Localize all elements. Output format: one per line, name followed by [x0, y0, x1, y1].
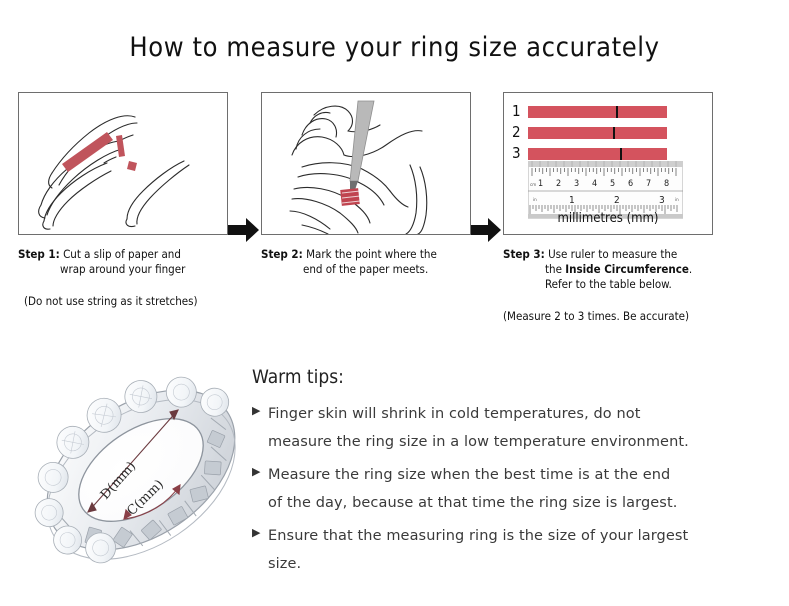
svg-text:in: in — [533, 197, 537, 203]
page-title: How to measure your ring size accurately — [0, 32, 789, 63]
ring-diagram: D(mm) C(mm) — [28, 352, 254, 588]
svg-text:4: 4 — [592, 179, 597, 189]
svg-text:cm: cm — [530, 183, 536, 188]
step-3-line2-pre: the — [545, 262, 565, 276]
step-3-line2-post: . — [689, 262, 692, 276]
svg-text:3: 3 — [574, 179, 579, 189]
step-1-note: (Do not use string as it stretches) — [18, 294, 242, 308]
step-2-line1: Mark the point where the — [306, 247, 437, 261]
tip-text: Measure the ring size when the best time… — [268, 461, 772, 517]
tip-2-line2: of the day, because at that time the rin… — [268, 495, 677, 511]
tip-2-line1: Measure the ring size when the best time… — [268, 467, 670, 483]
bullet-icon: ▶ — [252, 400, 268, 416]
step-3-label: Step 3: — [503, 247, 545, 261]
svg-text:6: 6 — [628, 179, 633, 189]
strip-mark-1 — [616, 106, 618, 118]
step-3-caption: Step 3: Use ruler to measure the the Ins… — [503, 247, 727, 292]
strip-number-2: 2 — [512, 125, 528, 140]
strip-number-1: 1 — [512, 104, 528, 119]
svg-text:2: 2 — [614, 195, 620, 206]
measured-strip-row-3: 3 — [512, 146, 667, 161]
strip-mark-2 — [613, 127, 615, 139]
svg-text:7: 7 — [646, 179, 651, 189]
millimetres-unit-label: millimetres (mm) — [504, 211, 712, 226]
steps-row: Step 1: Cut a slip of paper and wrap aro… — [0, 92, 789, 342]
tip-text: Finger skin will shrink in cold temperat… — [268, 400, 772, 456]
step-2-column: Step 2: Mark the point where the end of … — [261, 92, 485, 277]
strip-bar-1 — [528, 106, 667, 118]
svg-text:3: 3 — [659, 195, 665, 206]
measured-strip-row-1: 1 — [512, 104, 667, 119]
tip-item: ▶ Finger skin will shrink in cold temper… — [252, 400, 772, 456]
bullet-icon: ▶ — [252, 461, 268, 477]
panel-hand-marking-paper — [261, 92, 471, 235]
step-3-inside-circumference: Inside Circumference — [565, 262, 689, 276]
tip-item: ▶ Ensure that the measuring ring is the … — [252, 522, 772, 578]
step-2-line2: end of the paper meets. — [261, 262, 485, 277]
warm-tips-heading: Warm tips: — [252, 366, 772, 388]
panel-hand-with-paper-strip — [18, 92, 228, 235]
tip-item: ▶ Measure the ring size when the best ti… — [252, 461, 772, 517]
step-3-column: 1 2 3 — [503, 92, 727, 323]
panel-ruler-with-strips: 1 2 3 — [503, 92, 713, 235]
strip-number-3: 3 — [512, 146, 528, 161]
step-3-line3: Refer to the table below. — [503, 277, 727, 292]
step-1-label: Step 1: — [18, 247, 60, 261]
strip-bar-2 — [528, 127, 667, 139]
bullet-icon: ▶ — [252, 522, 268, 538]
strip-bar-3 — [528, 148, 667, 160]
svg-text:2: 2 — [556, 179, 561, 189]
svg-text:in: in — [675, 197, 679, 203]
step-3-line1: Use ruler to measure the — [548, 247, 677, 261]
tip-1-line2: measure the ring size in a low temperatu… — [268, 434, 689, 450]
step-2-caption: Step 2: Mark the point where the end of … — [261, 247, 485, 277]
step-1-line2: wrap around your finger — [18, 262, 242, 277]
warm-tips-section: Warm tips: ▶ Finger skin will shrink in … — [252, 366, 772, 583]
tip-3-line1: Ensure that the measuring ring is the si… — [268, 528, 688, 544]
step-2-label: Step 2: — [261, 247, 303, 261]
step-1-line1: Cut a slip of paper and — [63, 247, 181, 261]
tip-text: Ensure that the measuring ring is the si… — [268, 522, 772, 578]
step-3-note: (Measure 2 to 3 times. Be accurate) — [503, 309, 727, 323]
step-1-caption: Step 1: Cut a slip of paper and wrap aro… — [18, 247, 242, 277]
step-1-column: Step 1: Cut a slip of paper and wrap aro… — [18, 92, 242, 308]
tip-1-line1: Finger skin will shrink in cold temperat… — [268, 406, 641, 422]
svg-text:8: 8 — [664, 179, 669, 189]
step-3-line2: the Inside Circumference. — [503, 262, 727, 277]
svg-text:1: 1 — [538, 179, 543, 189]
strip-mark-3 — [620, 148, 622, 160]
tip-3-line2: size. — [268, 556, 301, 572]
svg-text:5: 5 — [610, 179, 615, 189]
svg-text:1: 1 — [569, 195, 575, 206]
measured-strip-row-2: 2 — [512, 125, 667, 140]
